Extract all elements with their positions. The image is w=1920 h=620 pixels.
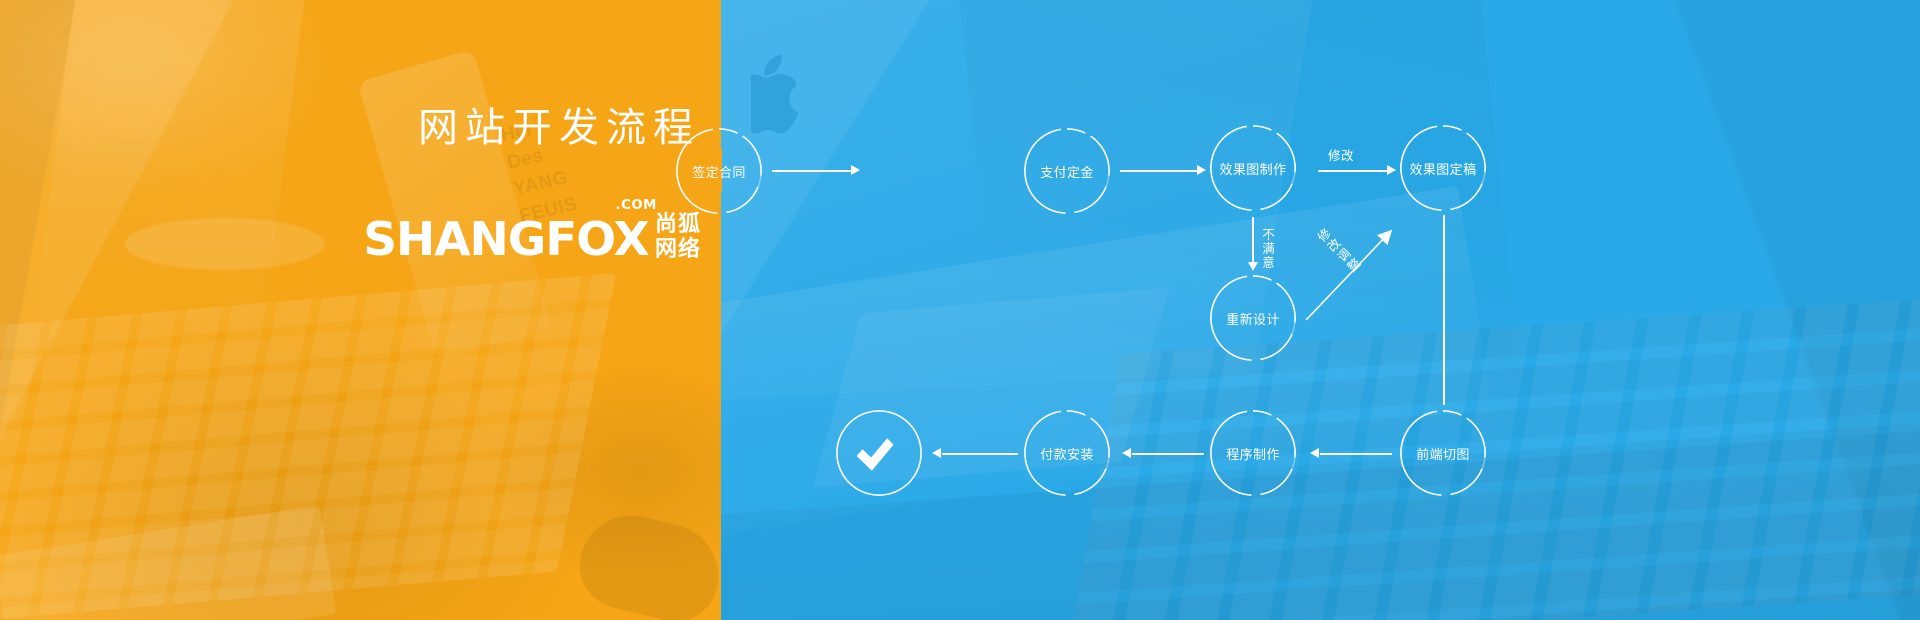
flow-node-label: 支付定金 — [1040, 162, 1094, 181]
connector-n2-n3 — [1120, 170, 1200, 172]
arrowhead-n1-n2 — [851, 165, 860, 175]
arrowhead-n3-n4 — [1387, 165, 1396, 175]
flow-node-label: 签定合同 — [692, 162, 746, 181]
connector-n1-n2 — [772, 170, 854, 172]
flow-node-label: 效果图制作 — [1219, 159, 1286, 178]
connector-n7-n8 — [1132, 453, 1204, 455]
flow-node-label: 付款安装 — [1040, 444, 1094, 463]
flow-node-label: 重新设计 — [1226, 309, 1280, 328]
connector-n8-n9 — [942, 453, 1018, 455]
flow-node-sign-contract[interactable]: 签定合同 — [676, 128, 762, 214]
connector-n3-n5 — [1252, 217, 1254, 265]
flow-node-label: 前端切图 — [1416, 444, 1470, 463]
flow-node-redesign[interactable]: 重新设计 — [1210, 275, 1296, 361]
flow-node-program-development[interactable]: 程序制作 — [1210, 410, 1296, 496]
flow-node-label: 程序制作 — [1226, 444, 1280, 463]
arrowhead-n2-n3 — [1197, 165, 1206, 175]
flow-node-mockup-production[interactable]: 效果图制作 — [1210, 125, 1296, 211]
connector-n4-n6 — [1443, 215, 1445, 405]
flow-node-payment-install[interactable]: 付款安装 — [1024, 410, 1110, 496]
connector-label-revise: 修改 — [1328, 145, 1354, 164]
flow-node-frontend-slicing[interactable]: 前端切图 — [1400, 410, 1486, 496]
arrowhead-n8-n9 — [932, 448, 941, 458]
connector-n3-n4 — [1318, 170, 1390, 172]
diagonal-connector-svg — [0, 0, 1920, 620]
connector-n6-n7 — [1320, 453, 1392, 455]
flow-node-label: 效果图定稿 — [1409, 159, 1476, 178]
arrowhead-n7-n8 — [1122, 448, 1131, 458]
connector-label-revise-adjust: 修改调整 — [1312, 225, 1365, 278]
flowchart: 签定合同 支付定金 效果图制作 效果图定稿 重新设计 前端切图 程序制作 — [0, 0, 1920, 620]
flow-node-mockup-finalized[interactable]: 效果图定稿 — [1400, 125, 1486, 211]
flow-node-pay-deposit[interactable]: 支付定金 — [1024, 128, 1110, 214]
arrowhead-n3-n5 — [1248, 262, 1258, 271]
arrowhead-n6-n7 — [1310, 448, 1319, 458]
connector-label-unsatisfied: 不满意 — [1258, 228, 1277, 270]
flow-node-complete[interactable] — [836, 410, 922, 496]
banner-root: Hel Des YANG FEUIS 网站开发流程 SHANGFOX .COM … — [0, 0, 1920, 620]
